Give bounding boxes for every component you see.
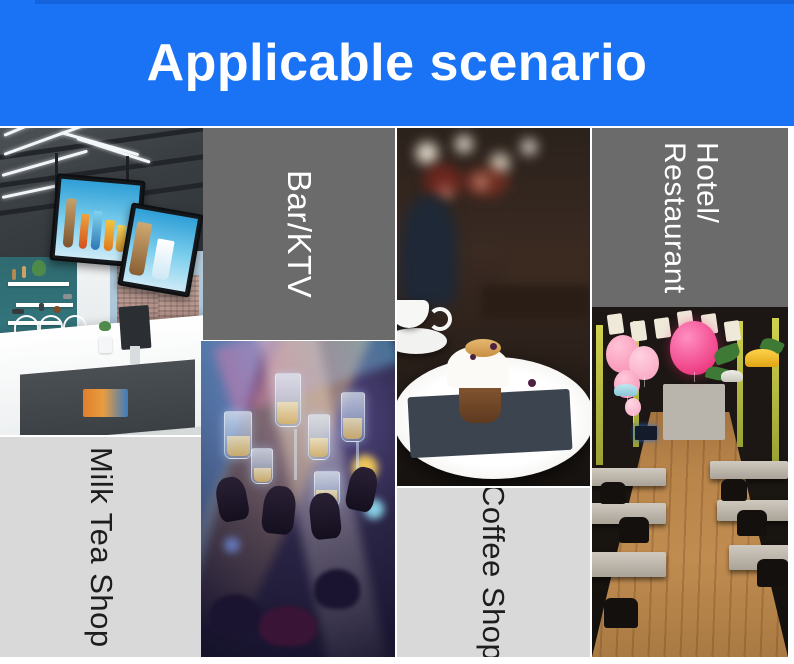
bokeh-light	[424, 164, 462, 198]
coffee-shop-label-tile: Coffee Shop	[397, 488, 590, 657]
page-title: Applicable scenario	[0, 0, 794, 126]
shelf-box	[12, 309, 24, 314]
cup-handle	[428, 307, 452, 331]
blurred-counter	[482, 286, 590, 318]
crowd-silhouette	[259, 606, 317, 646]
projection-screen	[663, 384, 726, 440]
banner-flag	[724, 320, 742, 342]
chair	[604, 598, 638, 628]
dining-table	[592, 552, 666, 577]
bokeh-light	[416, 142, 438, 164]
coffee-shop-photo	[397, 128, 590, 486]
hand	[261, 485, 298, 536]
pos-monitor	[118, 305, 151, 350]
shot-glass	[251, 448, 273, 484]
bokeh-light	[455, 135, 473, 153]
hotel-restaurant-label: Hotel/Restaurant	[658, 142, 723, 294]
laptop	[635, 426, 657, 440]
shelf-plant	[32, 260, 46, 276]
shelf-jar	[22, 266, 26, 278]
shelf-jar	[12, 269, 16, 280]
hotel-label-line-2: Restaurant	[658, 142, 691, 294]
applicable-scenario-page: Applicable scenario	[0, 0, 794, 664]
menu-display-right	[117, 202, 203, 297]
chair	[600, 482, 626, 504]
milk-tea-shop-label: Milk Tea Shop	[85, 447, 118, 648]
restaurant-photo	[592, 307, 788, 657]
champagne-flute	[341, 392, 365, 442]
counter-cup	[99, 337, 112, 353]
milk-tea-shop-photo	[0, 128, 203, 435]
chair	[757, 559, 788, 587]
shelf-box	[63, 294, 72, 299]
coffee-shop-label: Coffee Shop	[477, 488, 510, 657]
champagne-flute	[308, 414, 330, 460]
glass-stem	[294, 429, 297, 480]
shop-logo	[83, 389, 128, 417]
berry	[470, 354, 476, 360]
saucer	[397, 328, 447, 354]
wall-shelf	[8, 282, 69, 286]
pendant-lamp	[721, 370, 743, 382]
blurred-person	[401, 196, 457, 306]
bokeh-light	[463, 167, 509, 197]
shelf-bottle	[39, 303, 44, 311]
milk-tea-shop-label-tile: Milk Tea Shop	[0, 437, 203, 657]
shelf-pot	[53, 306, 61, 313]
blurred-counter	[505, 243, 590, 286]
drink-glass	[224, 411, 252, 459]
coffee-cup	[397, 300, 429, 328]
page-header-banner: Applicable scenario	[0, 0, 794, 126]
chair	[737, 510, 767, 536]
hotel-label-line-1: Hotel/	[690, 142, 723, 223]
dining-table	[710, 461, 788, 479]
pendant-lamp	[745, 349, 779, 367]
bar-ktv-label: Bar/KTV	[281, 170, 317, 298]
chair	[619, 517, 649, 543]
champagne-flute	[275, 373, 301, 427]
pos-monitor-stand	[130, 346, 140, 364]
bokeh-light	[521, 139, 537, 155]
wall-shelf	[16, 303, 73, 307]
berry	[490, 343, 497, 350]
crowd-silhouette	[314, 569, 360, 609]
bar-ktv-label-tile: Bar/KTV	[203, 128, 395, 340]
hotel-restaurant-label-tile: Hotel/Restaurant	[592, 128, 788, 307]
banner-flag	[653, 317, 671, 339]
bar-ktv-photo	[201, 341, 395, 657]
decor-post	[596, 325, 603, 465]
berry	[528, 379, 536, 387]
banner-flag	[606, 313, 624, 335]
chair	[721, 479, 747, 501]
crowd-silhouette	[209, 594, 261, 636]
pendant-lamp	[614, 384, 638, 396]
